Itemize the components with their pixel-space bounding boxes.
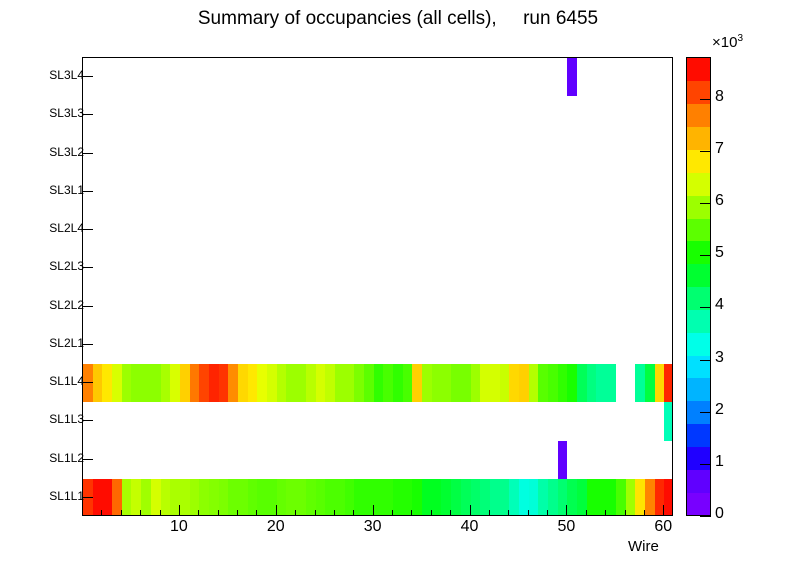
color-scale-band xyxy=(687,378,710,401)
heatmap-cell xyxy=(190,364,200,402)
heatmap-cell xyxy=(587,479,597,515)
heatmap-cell xyxy=(471,479,481,515)
heatmap-cell xyxy=(151,364,161,402)
x-axis-minor-tick xyxy=(528,510,529,516)
heatmap-cell xyxy=(296,479,306,515)
heatmap-cell xyxy=(567,479,577,515)
y-axis-tick-label-sl1l1: SL1L1 xyxy=(49,489,84,503)
heatmap-cell xyxy=(238,364,248,402)
heatmap-cell xyxy=(490,364,500,402)
y-axis-tick-label-sl3l1: SL3L1 xyxy=(49,183,84,197)
x-axis-major-tick xyxy=(663,505,664,516)
heatmap-cell xyxy=(219,479,229,515)
x-axis-minor-tick xyxy=(82,510,83,516)
heatmap-cell xyxy=(596,364,606,402)
x-axis-tick-label-30: 30 xyxy=(353,518,393,536)
color-scale-band xyxy=(687,149,710,172)
heatmap-cell xyxy=(122,364,132,402)
heatmap-cell xyxy=(219,364,229,402)
x-axis-minor-tick xyxy=(160,510,161,516)
x-axis-major-tick xyxy=(566,505,567,516)
y-axis-tick-label-sl1l2: SL1L2 xyxy=(49,451,84,465)
heatmap-cell xyxy=(238,479,248,515)
x-axis-minor-tick xyxy=(198,510,199,516)
x-axis-tick-label-10: 10 xyxy=(159,518,199,536)
color-scale-tick-label-4: 4 xyxy=(715,296,724,314)
x-axis-minor-tick xyxy=(392,510,393,516)
x-axis-minor-tick xyxy=(121,510,122,516)
heatmap-cell xyxy=(606,479,616,515)
color-scale-tick xyxy=(700,412,711,413)
x-axis-minor-tick xyxy=(295,510,296,516)
color-scale-band xyxy=(687,127,710,150)
color-scale-tick-label-0: 0 xyxy=(715,505,724,523)
color-scale-tick-label-6: 6 xyxy=(715,192,724,210)
heatmap-cell xyxy=(432,364,442,402)
x-axis-minor-tick xyxy=(508,510,509,516)
x-axis-minor-tick xyxy=(353,510,354,516)
color-scale-band xyxy=(687,469,710,492)
y-axis-tick-label-sl2l4: SL2L4 xyxy=(49,221,84,235)
color-scale-tick xyxy=(700,360,711,361)
x-axis-minor-tick xyxy=(256,510,257,516)
heatmap-cell xyxy=(500,364,510,402)
color-scale-band xyxy=(687,492,710,515)
plot-frame xyxy=(82,57,673,516)
heatmap-cell xyxy=(548,364,558,402)
heatmap-cell xyxy=(228,364,238,402)
heatmap-cell xyxy=(412,479,422,515)
color-scale-band xyxy=(687,58,710,81)
heatmap-cell xyxy=(374,479,384,515)
root-canvas: Summary of occupancies (all cells), run … xyxy=(0,0,796,572)
heatmap-cell xyxy=(199,364,209,402)
x-axis-minor-tick xyxy=(489,510,490,516)
x-axis-major-tick xyxy=(470,505,471,516)
heatmap-cell xyxy=(354,364,364,402)
x-axis-minor-tick xyxy=(431,510,432,516)
heatmap-cell xyxy=(354,479,364,515)
heatmap-cell xyxy=(345,364,355,402)
color-scale-band xyxy=(687,172,710,195)
y-axis-tick-label-sl1l3: SL1L3 xyxy=(49,412,84,426)
x-axis-minor-tick xyxy=(140,510,141,516)
heatmap-cell xyxy=(393,479,403,515)
heatmap-cell xyxy=(635,364,645,402)
y-axis-tick-label-sl3l2: SL3L2 xyxy=(49,145,84,159)
color-scale-band xyxy=(687,218,710,241)
heatmap-cell xyxy=(529,364,539,402)
x-axis-minor-tick xyxy=(625,510,626,516)
heatmap-cell xyxy=(664,402,672,440)
heatmap-cell xyxy=(558,441,568,479)
heatmap-cell-layer xyxy=(83,58,672,515)
heatmap-cell xyxy=(509,364,519,402)
heatmap-cell xyxy=(664,364,672,402)
heatmap-cell xyxy=(161,364,171,402)
x-axis-title: Wire xyxy=(628,538,659,555)
heatmap-cell xyxy=(335,364,345,402)
heatmap-cell xyxy=(170,364,180,402)
heatmap-cell xyxy=(577,364,587,402)
heatmap-cell xyxy=(102,479,112,515)
heatmap-cell xyxy=(548,479,558,515)
color-scale-band xyxy=(687,446,710,469)
heatmap-cell xyxy=(131,364,141,402)
x-axis-tick-label-60: 60 xyxy=(643,518,683,536)
color-scale-band xyxy=(687,104,710,127)
color-scale-multiplier: ×103 xyxy=(712,33,743,51)
x-axis-minor-tick xyxy=(334,510,335,516)
color-scale-multiplier-exponent: 3 xyxy=(737,33,743,44)
page-title: Summary of occupancies (all cells), run … xyxy=(0,8,796,30)
heatmap-cell xyxy=(335,479,345,515)
color-scale-band xyxy=(687,424,710,447)
heatmap-cell xyxy=(277,364,287,402)
heatmap-cell xyxy=(383,364,393,402)
color-scale-tick-label-5: 5 xyxy=(715,244,724,262)
heatmap-cell xyxy=(316,479,326,515)
heatmap-cell xyxy=(296,364,306,402)
y-axis-tick-label-sl3l3: SL3L3 xyxy=(49,106,84,120)
color-scale-tick xyxy=(700,516,711,517)
heatmap-cell xyxy=(102,364,112,402)
color-scale-tick-label-8: 8 xyxy=(715,88,724,106)
heatmap-cell xyxy=(509,479,519,515)
heatmap-cell xyxy=(306,364,316,402)
color-scale-band xyxy=(687,241,710,264)
color-scale-tick xyxy=(700,307,711,308)
heatmap-cell xyxy=(364,364,374,402)
heatmap-cell xyxy=(83,364,93,402)
heatmap-cell xyxy=(490,479,509,515)
heatmap-cell xyxy=(471,364,481,402)
color-scale-bar xyxy=(686,57,711,516)
heatmap-cell xyxy=(374,364,384,402)
heatmap-cell xyxy=(441,364,451,402)
color-scale-tick-label-2: 2 xyxy=(715,401,724,419)
heatmap-cell xyxy=(267,364,277,402)
color-scale-tick xyxy=(700,255,711,256)
x-axis-minor-tick xyxy=(586,510,587,516)
heatmap-cell xyxy=(655,364,665,402)
heatmap-cell xyxy=(422,364,432,402)
x-axis-major-tick xyxy=(276,505,277,516)
x-axis-minor-tick xyxy=(237,510,238,516)
heatmap-cell xyxy=(519,364,529,402)
heatmap-cell xyxy=(567,58,577,96)
color-scale-band xyxy=(687,309,710,332)
x-axis-major-tick xyxy=(373,505,374,516)
heatmap-cell xyxy=(325,364,335,402)
heatmap-cell xyxy=(393,364,403,402)
heatmap-cell xyxy=(451,479,461,515)
heatmap-cell xyxy=(664,479,672,515)
color-scale-band xyxy=(687,332,710,355)
heatmap-cell xyxy=(257,479,267,515)
heatmap-cell xyxy=(451,364,461,402)
x-axis-minor-tick xyxy=(101,510,102,516)
color-scale-band xyxy=(687,81,710,104)
heatmap-cell xyxy=(161,479,171,515)
heatmap-cell xyxy=(567,364,577,402)
color-scale-tick xyxy=(700,151,711,152)
x-axis-tick-label-50: 50 xyxy=(546,518,586,536)
heatmap-cell xyxy=(645,364,655,402)
heatmap-cell xyxy=(141,479,151,515)
heatmap-cell xyxy=(645,479,655,515)
color-scale-tick-label-1: 1 xyxy=(715,453,724,471)
color-scale-tick xyxy=(700,464,711,465)
heatmap-cell xyxy=(432,479,442,515)
x-axis-tick-label-40: 40 xyxy=(450,518,490,536)
color-scale-tick xyxy=(700,99,711,100)
heatmap-cell xyxy=(277,479,287,515)
heatmap-cell xyxy=(412,364,422,402)
heatmap-cell xyxy=(112,364,122,402)
heatmap-cell xyxy=(93,364,103,402)
heatmap-cell xyxy=(461,364,471,402)
color-scale-tick-label-3: 3 xyxy=(715,349,724,367)
heatmap-cell xyxy=(538,364,548,402)
color-scale-band xyxy=(687,195,710,218)
color-scale-tick xyxy=(700,203,711,204)
heatmap-cell xyxy=(122,479,132,515)
x-axis-minor-tick xyxy=(644,510,645,516)
color-scale-tick-label-7: 7 xyxy=(715,140,724,158)
heatmap-cell xyxy=(199,479,209,515)
heatmap-cell xyxy=(606,364,616,402)
heatmap-cell xyxy=(141,364,151,402)
heatmap-cell xyxy=(587,364,597,402)
y-axis-tick-label-sl3l4: SL3L4 xyxy=(49,68,84,82)
x-axis-tick-label-20: 20 xyxy=(256,518,296,536)
heatmap-cell xyxy=(626,479,636,515)
y-axis-tick-label-sl1l4: SL1L4 xyxy=(49,374,84,388)
x-axis-minor-tick xyxy=(411,510,412,516)
color-scale-band xyxy=(687,264,710,287)
heatmap-cell xyxy=(529,479,539,515)
x-axis-minor-tick xyxy=(315,510,316,516)
heatmap-cell xyxy=(180,364,190,402)
x-axis-minor-tick xyxy=(218,510,219,516)
heatmap-cell xyxy=(480,364,490,402)
y-axis-tick-label-sl2l3: SL2L3 xyxy=(49,259,84,273)
heatmap-cell xyxy=(248,364,258,402)
x-axis-major-tick xyxy=(179,505,180,516)
heatmap-cell xyxy=(286,364,296,402)
heatmap-cell xyxy=(209,364,219,402)
x-axis-minor-tick xyxy=(450,510,451,516)
heatmap-cell xyxy=(257,364,267,402)
heatmap-cell xyxy=(403,364,413,402)
x-axis-minor-tick xyxy=(605,510,606,516)
y-axis-tick-label-sl2l2: SL2L2 xyxy=(49,298,84,312)
heatmap-cell xyxy=(558,364,568,402)
heatmap-cell xyxy=(316,364,326,402)
x-axis-minor-tick xyxy=(547,510,548,516)
heatmap-cell xyxy=(180,479,190,515)
y-axis-tick-label-sl2l1: SL2L1 xyxy=(49,336,84,350)
